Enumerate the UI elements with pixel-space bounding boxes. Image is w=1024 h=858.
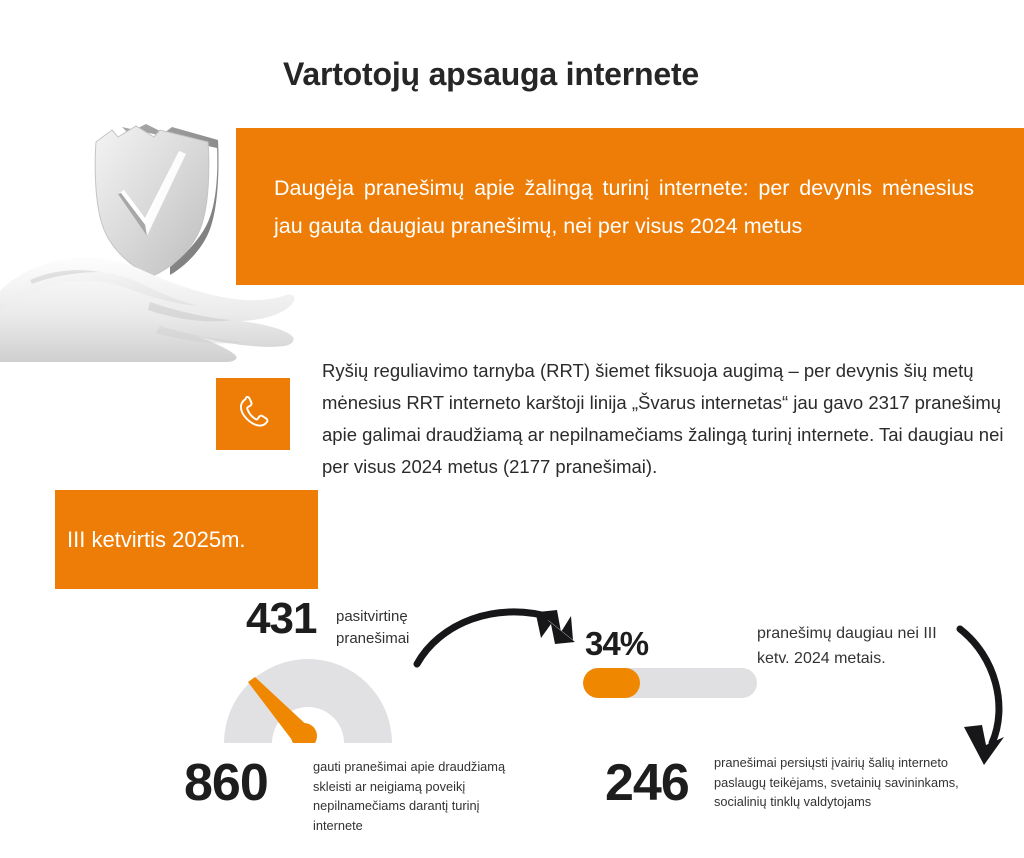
growth-progress-bar [583,668,757,698]
stat-received-value: 860 [184,757,268,809]
shield-check-icon [95,124,218,276]
stat-confirmed-value: 431 [246,597,316,641]
page-title: Vartotojų apsauga internete [283,56,699,93]
stat-received-caption: gauti pranešimai apie draudžiamą skleist… [313,757,523,835]
growth-progress-fill [583,668,640,698]
infographic-canvas: Vartotojų apsauga internete [0,0,1024,858]
stat-forwarded-value: 246 [605,757,689,809]
curved-arrow-down-icon [938,615,1018,775]
stat-growth-value: 34% [585,627,648,660]
phone-handset-icon [234,395,272,433]
stat-growth-caption: pranešimų daugiau nei III ketv. 2024 met… [757,621,957,671]
lead-paragraph: Ryšių reguliavimo tarnyba (RRT) šiemet f… [322,355,1012,483]
gauge-meter-icon [220,648,396,743]
stat-forwarded-caption: pranešimai persiųsti įvairių šalių inter… [714,753,974,812]
phone-tile [216,378,290,450]
hero-banner: Daugėja pranešimų apie žalingą turinį in… [236,128,1024,285]
quarter-label: III ketvirtis 2025m. [55,527,246,553]
quarter-label-box: III ketvirtis 2025m. [55,490,318,589]
hero-banner-text: Daugėja pranešimų apie žalingą turinį in… [236,169,1024,245]
curved-arrow-right-icon [405,598,605,678]
